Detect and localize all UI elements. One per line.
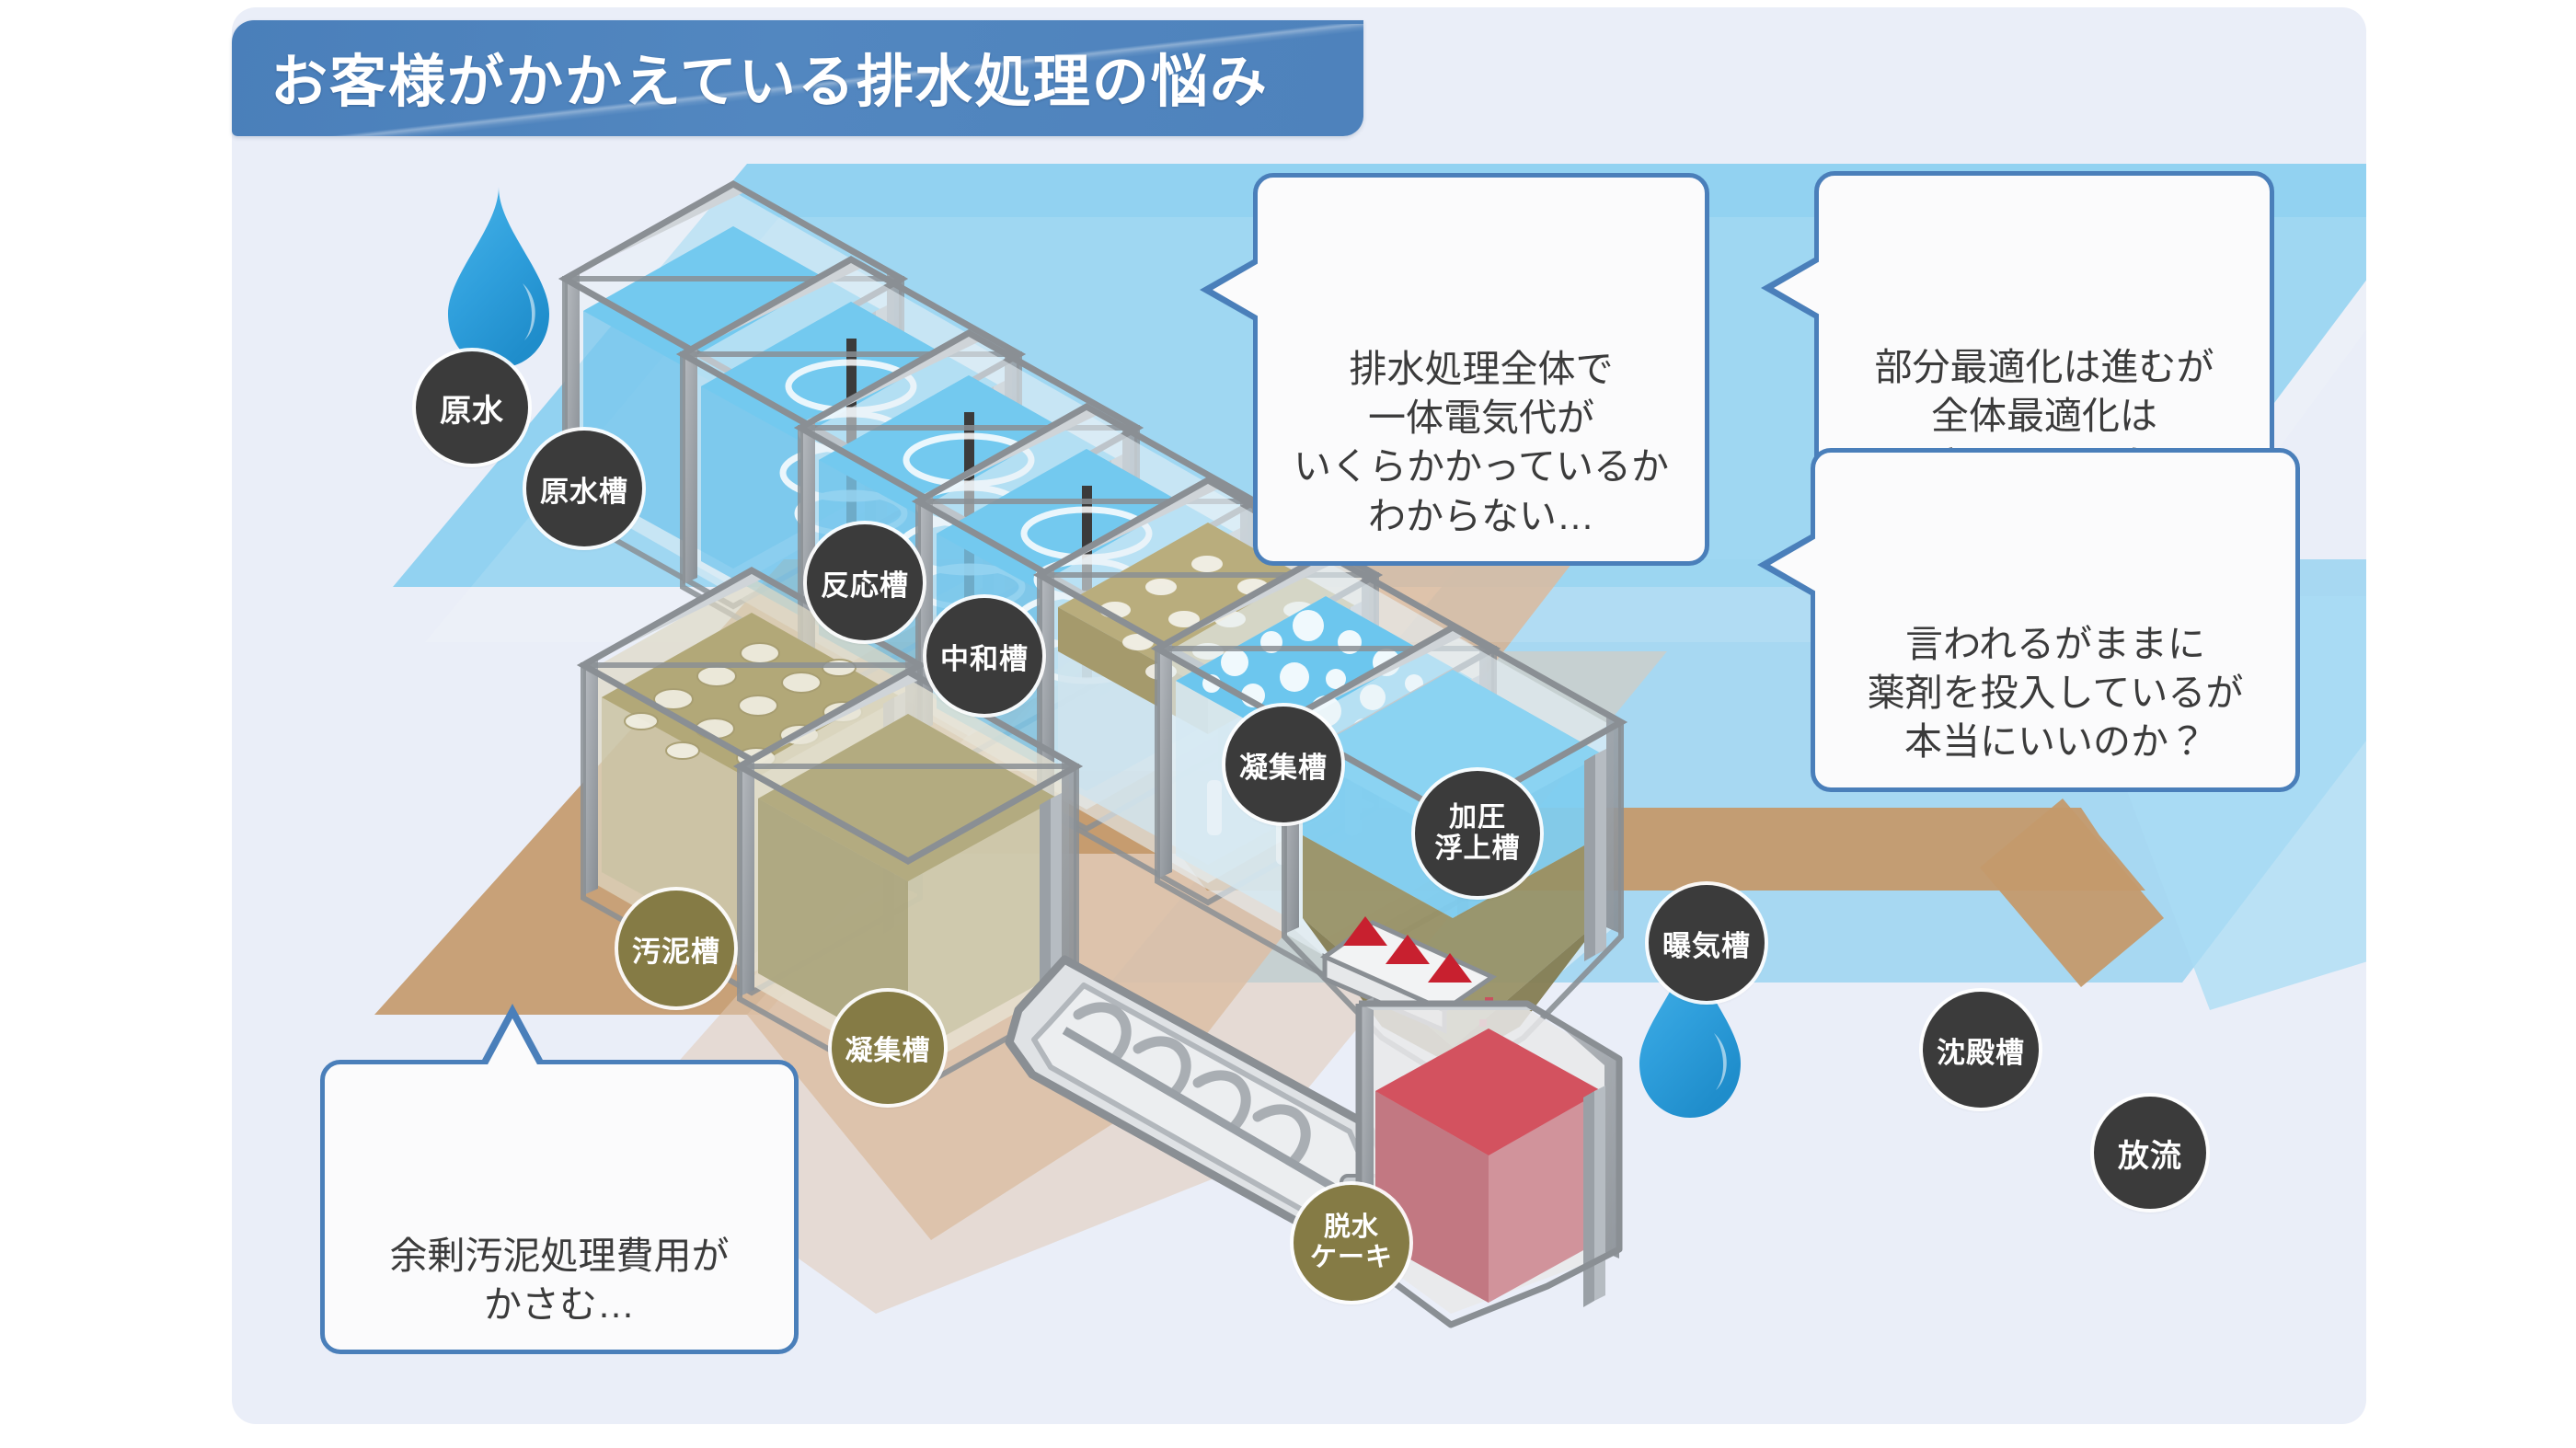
raw-water-droplet-icon bbox=[448, 187, 549, 368]
page-title: お客様がかかえている排水処理の悩み bbox=[270, 35, 1269, 118]
badge-neutralization-tank[interactable]: 中和槽 bbox=[926, 598, 1042, 714]
bubble-tail-inner bbox=[487, 1018, 538, 1066]
bubble-chemicals[interactable]: 言われるがままに 薬剤を投入しているが 本当にいいのか？ bbox=[1811, 448, 2300, 792]
bubble-tail-inner bbox=[1213, 263, 1259, 316]
bubble-electricity[interactable]: 排水処理全体で 一体電気代が いくらかかっているか わからない… bbox=[1253, 173, 1709, 566]
badge-raw-water[interactable]: 原水 bbox=[416, 351, 528, 464]
bubble-text: 言われるがままに 薬剤を投入しているが 本当にいいのか？ bbox=[1868, 623, 2244, 764]
badge-raw-water-tank[interactable]: 原水槽 bbox=[526, 431, 642, 546]
badge-sludge-tank[interactable]: 汚泥槽 bbox=[618, 891, 734, 1006]
badge-sludge-coagulation-tank[interactable]: 凝集槽 bbox=[832, 992, 944, 1104]
badge-sedimentation-tank[interactable]: 沈殿槽 bbox=[1923, 992, 2039, 1108]
badge-reaction-tank[interactable]: 反応槽 bbox=[807, 524, 923, 640]
badge-pressure-flotation-tank[interactable]: 加圧 浮上槽 bbox=[1415, 771, 1540, 896]
badge-aeration-tank[interactable]: 曝気槽 bbox=[1649, 885, 1765, 1001]
panel-title-ribbon: お客様がかかえている排水処理の悩み bbox=[232, 20, 1363, 136]
bubble-tail-inner bbox=[1774, 261, 1820, 315]
bubble-text: 排水処理全体で 一体電気代が いくらかかっているか わからない… bbox=[1294, 348, 1669, 537]
bubble-text: 余剰汚泥処理費用が かさむ… bbox=[390, 1235, 730, 1326]
badge-dewatered-cake[interactable]: 脱水 ケーキ bbox=[1294, 1185, 1409, 1301]
badge-discharge[interactable]: 放流 bbox=[2094, 1097, 2206, 1209]
screenshot-root: お客様がかかえている排水処理の悩み 原水 原水槽 反応槽 中和槽 凝集槽 加圧 … bbox=[0, 0, 2576, 1448]
badge-coagulation-tank[interactable]: 凝集槽 bbox=[1225, 707, 1341, 822]
bubble-tail-inner bbox=[1770, 538, 1816, 592]
bubble-sludge-cost[interactable]: 余剰汚泥処理費用が かさむ… bbox=[320, 1060, 799, 1354]
